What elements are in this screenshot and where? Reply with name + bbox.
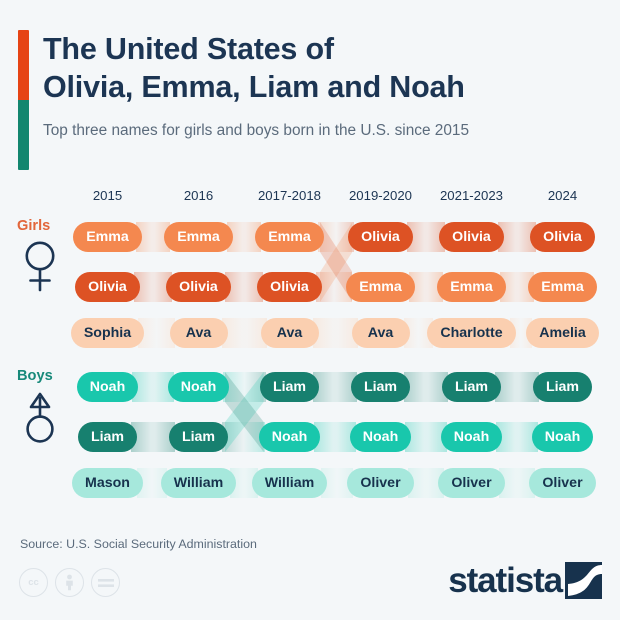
name-pill[interactable]: Oliver	[529, 468, 595, 498]
column-headers: 201520162017-20182019-20202021-20232024	[62, 188, 608, 208]
name-pill[interactable]: Liam	[351, 372, 410, 402]
girls-section: Girls EmmaEmmaEmmaOliviaOliviaOliviaOliv…	[0, 212, 620, 347]
column-header-2019-2020: 2019-2020	[335, 188, 426, 203]
boys-pill-layer: NoahNoahLiamLiamLiamLiamLiamLiamNoahNoah…	[0, 362, 620, 497]
boys-section: Boys NoahNoahLiamLiamLiamLiamLiamLiamNoa…	[0, 362, 620, 497]
name-pill[interactable]: Ava	[261, 318, 319, 348]
name-pill[interactable]: William	[161, 468, 237, 498]
name-pill[interactable]: Olivia	[166, 272, 231, 302]
statista-logo[interactable]: statista	[448, 562, 602, 599]
page-title: The United States of Olivia, Emma, Liam …	[43, 31, 608, 107]
name-pill[interactable]: Emma	[255, 222, 324, 252]
name-pill[interactable]: Emma	[73, 222, 142, 252]
name-pill[interactable]: Liam	[442, 372, 501, 402]
name-pill[interactable]: Olivia	[348, 222, 413, 252]
name-pill[interactable]: Olivia	[439, 222, 504, 252]
girls-pill-layer: EmmaEmmaEmmaOliviaOliviaOliviaOliviaOliv…	[0, 212, 620, 347]
header: The United States of Olivia, Emma, Liam …	[0, 0, 620, 178]
name-pill[interactable]: Liam	[169, 422, 228, 452]
name-pill[interactable]: Amelia	[526, 318, 599, 348]
cc-nd-equals-icon[interactable]	[91, 568, 120, 597]
name-pill[interactable]: Liam	[533, 372, 592, 402]
accent-bar	[18, 30, 29, 170]
name-pill[interactable]: Noah	[259, 422, 320, 452]
name-pill[interactable]: Emma	[164, 222, 233, 252]
name-pill[interactable]: Noah	[532, 422, 593, 452]
name-pill[interactable]: Mason	[72, 468, 143, 498]
cc-icon[interactable]: cc	[19, 568, 48, 597]
name-pill[interactable]: Ava	[170, 318, 228, 348]
name-pill[interactable]: Oliver	[347, 468, 413, 498]
name-pill[interactable]: Oliver	[438, 468, 504, 498]
name-pill[interactable]: Olivia	[75, 272, 140, 302]
page-title-line1: The United States of	[43, 31, 608, 69]
name-pill[interactable]: William	[252, 468, 328, 498]
page-title-line2: Olivia, Emma, Liam and Noah	[43, 69, 608, 107]
name-pill[interactable]: Olivia	[257, 272, 322, 302]
boys-rows: NoahNoahLiamLiamLiamLiamLiamLiamNoahNoah…	[0, 362, 620, 497]
statista-wordmark: statista	[448, 563, 562, 598]
name-pill[interactable]: Noah	[441, 422, 502, 452]
cc-by-person-icon[interactable]	[55, 568, 84, 597]
creative-commons-icons: cc	[19, 568, 120, 597]
name-pill[interactable]: Emma	[346, 272, 415, 302]
name-pill[interactable]: Charlotte	[427, 318, 515, 348]
name-pill[interactable]: Emma	[437, 272, 506, 302]
column-header-2017-2018: 2017-2018	[244, 188, 335, 203]
name-pill[interactable]: Sophia	[71, 318, 144, 348]
name-pill[interactable]: Emma	[528, 272, 597, 302]
page-subtitle: Top three names for girls and boys born …	[43, 120, 588, 142]
name-pill[interactable]: Noah	[77, 372, 138, 402]
column-header-2015: 2015	[62, 188, 153, 203]
name-pill[interactable]: Liam	[78, 422, 137, 452]
name-pill[interactable]: Liam	[260, 372, 319, 402]
name-pill[interactable]: Olivia	[530, 222, 595, 252]
girls-rows: EmmaEmmaEmmaOliviaOliviaOliviaOliviaOliv…	[0, 212, 620, 347]
column-header-2024: 2024	[517, 188, 608, 203]
column-header-2021-2023: 2021-2023	[426, 188, 517, 203]
accent-bar-orange	[18, 30, 29, 100]
name-pill[interactable]: Noah	[168, 372, 229, 402]
name-pill[interactable]: Noah	[350, 422, 411, 452]
name-pill[interactable]: Ava	[352, 318, 410, 348]
column-header-2016: 2016	[153, 188, 244, 203]
statista-mark-icon	[565, 562, 602, 599]
accent-bar-teal	[18, 100, 29, 170]
source-note: Source: U.S. Social Security Administrat…	[20, 537, 257, 551]
